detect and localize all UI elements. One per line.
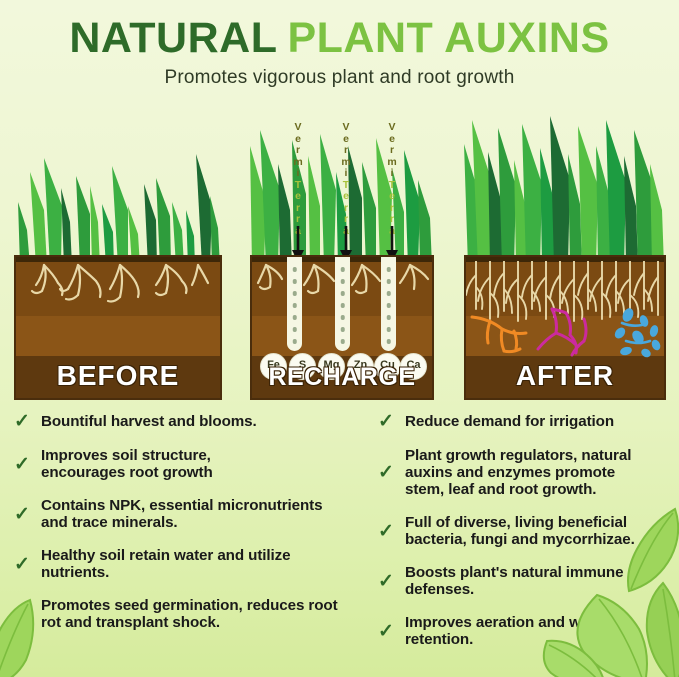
leaf-icon-bottom-left (0, 590, 81, 677)
benefit-item: ✓ Contains NPK, essential micronutrients… (14, 497, 366, 531)
panel-label-before: BEFORE (16, 360, 220, 392)
title-part-plant-auxins: PLANT AUXINS (287, 14, 609, 62)
nutrient-tube-3 (381, 257, 396, 351)
benefit-text: Contains NPK, essential micronutrientsan… (41, 497, 322, 531)
brand-vermi-letter: r (339, 145, 353, 157)
soil-block-recharge: Fe S Mg Zn Cu Ca RECHARGE (250, 255, 434, 400)
nutrient-dot (292, 267, 297, 272)
nutrient-dot (292, 303, 297, 308)
brand-vermi-letter: i (291, 168, 305, 180)
nutrient-dot (386, 267, 391, 272)
brand-terra-letter: r (339, 214, 353, 226)
roots-before-illustration (16, 261, 220, 321)
check-icon: ✓ (14, 555, 34, 574)
grass-after-illustration (464, 110, 666, 268)
brand-label-3: V e r m i T e r r a (385, 122, 399, 237)
nutrient-dot (386, 291, 391, 296)
nutrient-dot (386, 279, 391, 284)
benefit-text: Improves soil structure,encourages root … (41, 447, 213, 481)
brand-terra-letter: e (291, 191, 305, 203)
roots-after-illustration (466, 261, 664, 366)
page-title: NATURALPLANT AUXINS (0, 0, 679, 61)
panel-label-recharge: RECHARGE (252, 363, 432, 392)
brand-vermi-letter: V (291, 122, 305, 134)
nutrient-dot (292, 339, 297, 344)
header: NATURALPLANT AUXINS Promotes vigorous pl… (0, 0, 679, 89)
check-icon: ✓ (14, 412, 34, 431)
benefit-item: ✓ Bountiful harvest and blooms. (14, 412, 366, 431)
panel-recharge: V e r m i T e r r a V e r m i T e r r (250, 110, 434, 400)
check-icon: ✓ (378, 622, 398, 641)
brand-terra-letter: r (291, 214, 305, 226)
panel-after: AFTER (464, 110, 666, 400)
nutrient-dot (292, 315, 297, 320)
comparison-panels: BEFORE V e (0, 110, 679, 400)
benefit-text: Plant growth regulators, naturalauxins a… (405, 447, 631, 498)
nutrient-dot (292, 279, 297, 284)
benefit-text: Bountiful harvest and blooms. (41, 413, 257, 430)
soil-block-before: BEFORE (14, 255, 222, 400)
benefit-item: ✓ Plant growth regulators, naturalauxins… (378, 447, 668, 498)
brand-vermi-letter: i (385, 168, 399, 180)
check-icon: ✓ (14, 455, 34, 474)
infographic-poster: NATURALPLANT AUXINS Promotes vigorous pl… (0, 0, 679, 677)
grass-before-illustration (14, 110, 222, 268)
benefit-item: ✓ Improves soil structure,encourages roo… (14, 447, 366, 481)
nutrient-dot (386, 303, 391, 308)
panel-label-after: AFTER (466, 360, 664, 392)
brand-terra-letter: e (339, 191, 353, 203)
brand-vermi-letter: V (339, 122, 353, 134)
brand-vermi-letter: V (385, 122, 399, 134)
benefit-text: Promotes seed germination, reduces rootr… (41, 597, 338, 631)
benefit-text: Healthy soil retain water and utilizenut… (41, 547, 291, 581)
nutrient-dot (340, 267, 345, 272)
nutrient-dot (386, 339, 391, 344)
soil-block-after: AFTER (464, 255, 666, 400)
brand-terra-letter: r (385, 214, 399, 226)
benefit-text: Reduce demand for irrigation (405, 413, 614, 430)
check-icon: ✓ (378, 463, 398, 482)
brand-terra-letter: e (385, 191, 399, 203)
nutrient-dot (340, 303, 345, 308)
nutrient-dot (292, 327, 297, 332)
brand-vermi-letter: i (339, 168, 353, 180)
page-subtitle: Promotes vigorous plant and root growth (0, 67, 679, 89)
nutrient-tube-1 (287, 257, 302, 351)
microbe-orange (472, 317, 526, 352)
soil-layer-mid (16, 316, 220, 355)
brand-vermi-letter: r (385, 145, 399, 157)
nutrient-dot (292, 291, 297, 296)
check-icon: ✓ (378, 412, 398, 431)
nutrient-dot (340, 339, 345, 344)
nutrient-dot (340, 279, 345, 284)
check-icon: ✓ (378, 572, 398, 591)
panel-before: BEFORE (14, 110, 222, 400)
nutrient-tube-2 (335, 257, 350, 351)
benefit-text: Full of diverse, living beneficialbacter… (405, 514, 635, 548)
benefit-item: ✓ Reduce demand for irrigation (378, 412, 668, 431)
check-icon: ✓ (378, 522, 398, 541)
nutrient-dot (340, 327, 345, 332)
brand-label-2: V e r m i T e r r a (339, 122, 353, 237)
brand-vermi-letter: r (291, 145, 305, 157)
title-part-natural: NATURAL (69, 14, 277, 62)
nutrient-dot (340, 315, 345, 320)
benefit-item: ✓ Healthy soil retain water and utilizen… (14, 547, 366, 581)
nutrient-dot (386, 327, 391, 332)
nutrient-dot (340, 291, 345, 296)
check-icon: ✓ (14, 505, 34, 524)
brand-label-1: V e r m i T e r r a (291, 122, 305, 237)
nutrient-dot (386, 315, 391, 320)
leaf-icon-bottom-right (535, 577, 679, 677)
